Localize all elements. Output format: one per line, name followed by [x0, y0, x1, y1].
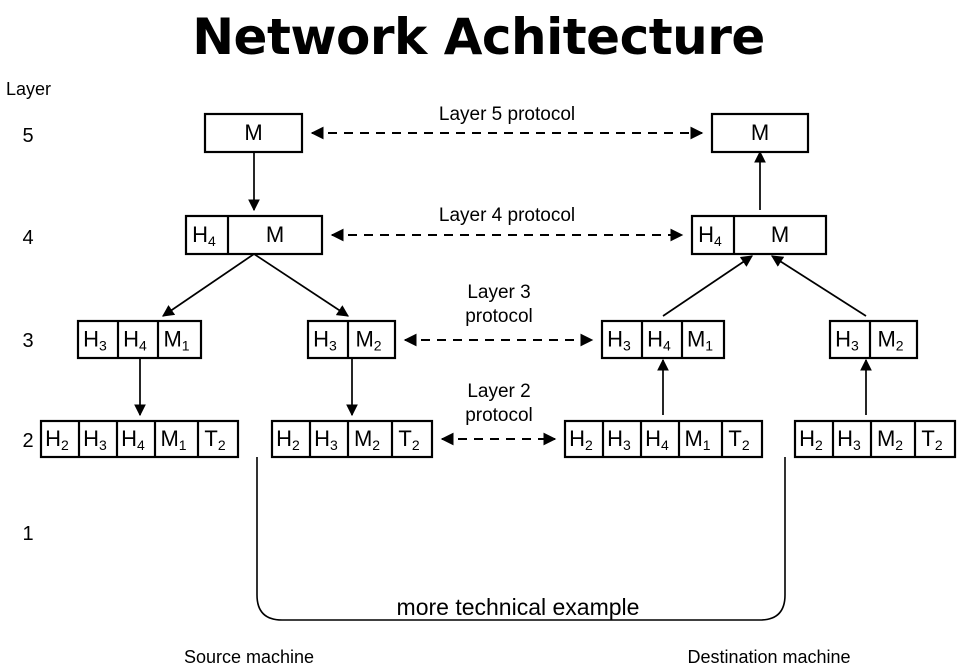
packet-layer4-source: H4M	[186, 216, 322, 254]
packet-layer3-dest-b: H3M2	[830, 321, 917, 358]
packet-layer5-source-cell-0: M	[244, 120, 262, 145]
protocol-label-layer4: Layer 4 protocol	[439, 205, 575, 226]
protocol-label-layer3-line2: protocol	[465, 306, 533, 327]
packet-layer4-dest-cell-1: M	[771, 222, 789, 247]
protocol-label-layer5: Layer 5 protocol	[439, 104, 575, 125]
connector-src-l4-to-l3a	[163, 254, 254, 316]
network-architecture-diagram: Layer 5 4 3 2 1 Layer 5 protocol Layer 4…	[0, 0, 957, 667]
packet-layer3-source-b: H3M2	[308, 321, 395, 358]
layer-number-3: 3	[22, 330, 33, 352]
packet-layer5-dest: M	[712, 114, 808, 152]
packet-layer2-dest-b: H2H3M2T2	[795, 421, 955, 457]
source-machine-label: Source machine	[184, 647, 314, 667]
technical-example-note: more technical example	[397, 594, 640, 620]
packet-layer2-source-b: H2H3M2T2	[272, 421, 432, 457]
layer-axis-header: Layer	[6, 79, 51, 99]
protocol-label-layer3-line1: Layer 3	[467, 282, 530, 303]
packet-layer3-dest-a: H3H4M1	[602, 321, 724, 358]
packet-layer3-source-a: H3H4M1	[78, 321, 201, 358]
packet-layer2-dest-a: H2H3H4M1T2	[565, 421, 762, 457]
packet-layer4-source-cell-1: M	[266, 222, 284, 247]
layer-number-2: 2	[22, 430, 33, 452]
layer-number-1: 1	[22, 523, 33, 545]
connector-src-l4-to-l3b	[254, 254, 348, 316]
protocol-label-layer2-line2: protocol	[465, 405, 533, 426]
packet-layer2-source-a: H2H3H4M1T2	[41, 421, 238, 457]
layer-number-4: 4	[22, 227, 33, 249]
protocol-label-layer2-line1: Layer 2	[467, 381, 530, 402]
connector-dst-l3a-to-l4	[663, 256, 752, 316]
packet-layer5-dest-cell-0: M	[751, 120, 769, 145]
connector-dst-l3b-to-l4	[772, 256, 866, 316]
layer-number-5: 5	[22, 125, 33, 147]
destination-machine-label: Destination machine	[687, 647, 850, 667]
packet-layer4-dest: H4M	[692, 216, 826, 254]
packet-layer5-source: M	[205, 114, 302, 152]
slide-canvas: Network Achitecture Layer 5 4 3 2 1	[0, 0, 957, 667]
